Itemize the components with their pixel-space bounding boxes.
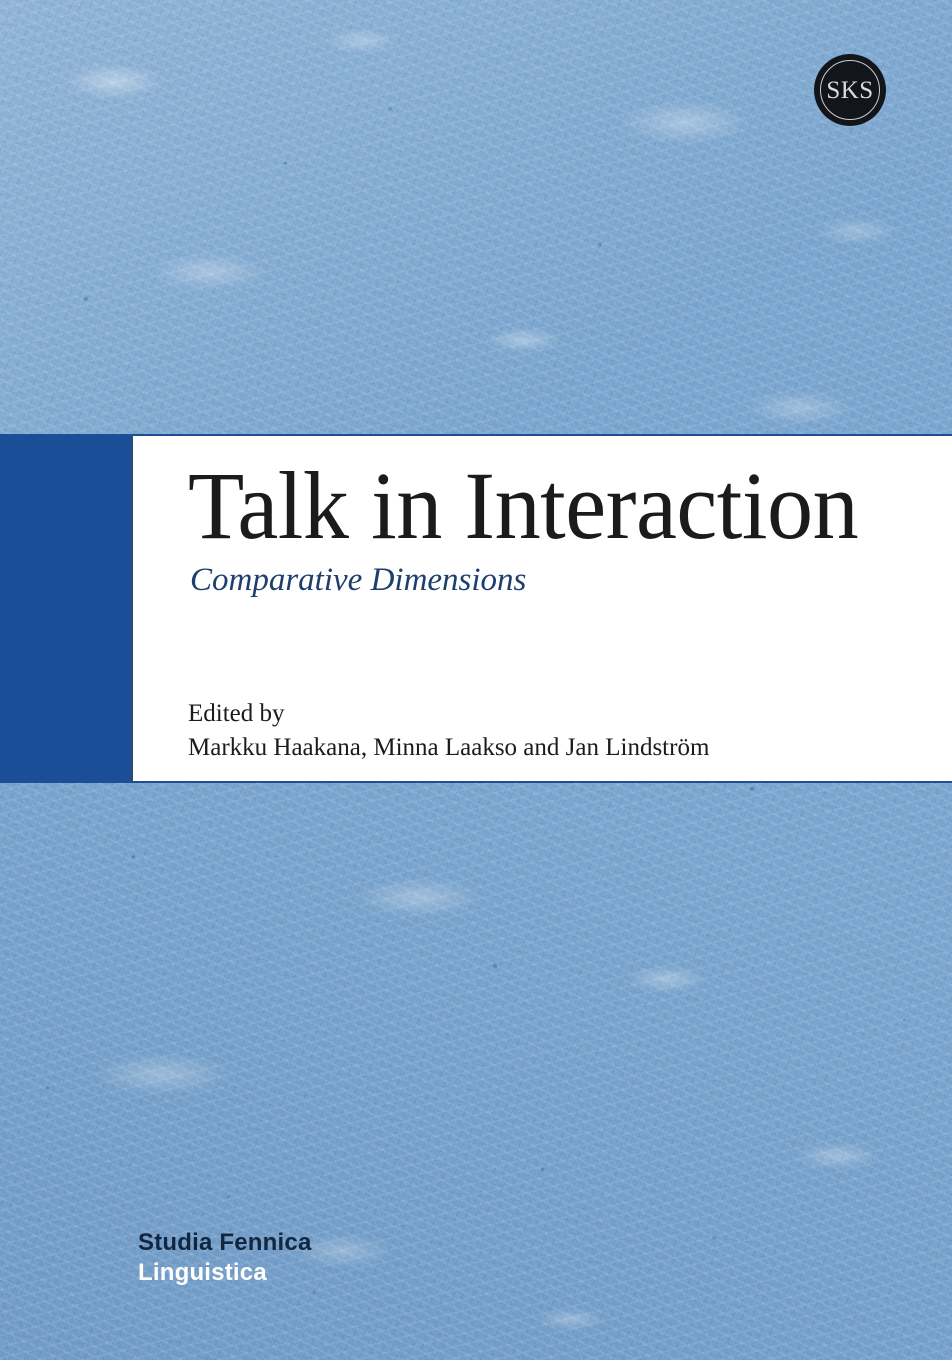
sks-publisher-logo-icon: SKS: [814, 54, 886, 126]
series-block: Studia Fennica Linguistica: [138, 1228, 312, 1288]
title-band: Talk in Interaction Comparative Dimensio…: [0, 434, 952, 783]
book-cover: SKS Talk in Interaction Comparative Dime…: [0, 0, 952, 1360]
editors-names: Markku Haakana, Minna Laakso and Jan Lin…: [188, 735, 709, 760]
series-name: Studia Fennica: [138, 1228, 312, 1258]
title-band-content: Talk in Interaction Comparative Dimensio…: [188, 436, 952, 781]
title-band-accent-bar: [0, 436, 133, 781]
logo-mark-text: SKS: [826, 78, 873, 103]
book-title: Talk in Interaction: [188, 458, 858, 554]
edited-by-label: Edited by: [188, 701, 285, 726]
series-subseries: Linguistica: [138, 1258, 312, 1288]
book-subtitle: Comparative Dimensions: [190, 564, 526, 597]
